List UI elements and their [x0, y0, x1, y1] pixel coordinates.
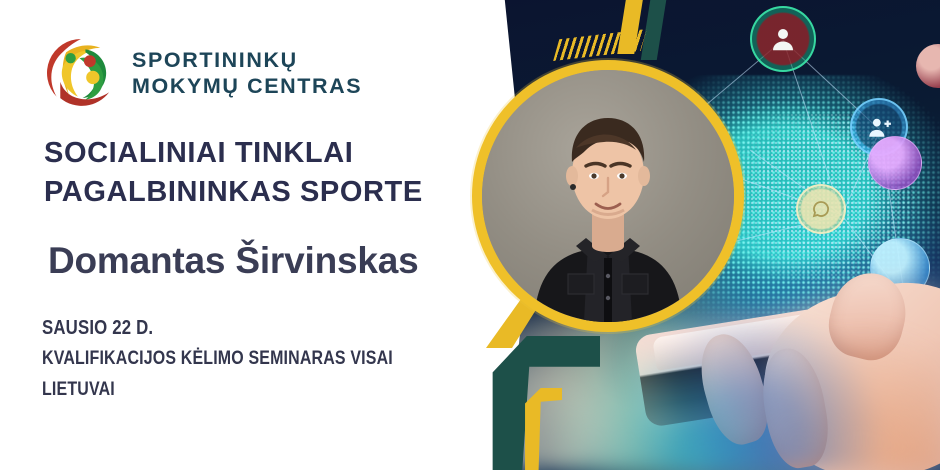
- brand-line-1: SPORTININKŲ: [132, 47, 362, 73]
- event-details: SAUSIO 22 D. KVALIFIKACIJOS KĖLIMO SEMIN…: [42, 312, 427, 406]
- event-poster: SPORTININKŲ MOKYMŲ CENTRAS SOCIALINIAI T…: [0, 0, 940, 470]
- content-panel: SPORTININKŲ MOKYMŲ CENTRAS SOCIALINIAI T…: [0, 0, 500, 470]
- speaker-name: Domantas Širvinskas: [48, 240, 418, 282]
- brand-line-2: MOKYMŲ CENTRAS: [132, 73, 362, 99]
- brand-logo-text: SPORTININKŲ MOKYMŲ CENTRAS: [132, 47, 362, 99]
- node-user-primary: [750, 6, 816, 72]
- event-date: SAUSIO 22 D.: [42, 312, 427, 344]
- speaker-portrait: [472, 60, 744, 332]
- graphic-panel: [450, 0, 940, 470]
- node-orb-purple: [868, 136, 922, 190]
- brand-logo: SPORTININKŲ MOKYMŲ CENTRAS: [44, 36, 362, 110]
- sportininku-mokymu-centras-emblem-icon: [44, 36, 118, 110]
- portrait-figure: [482, 70, 734, 322]
- chat-icon: [809, 197, 833, 221]
- node-chat: [796, 184, 846, 234]
- user-icon: [768, 24, 798, 54]
- page-title: SOCIALINIAI TINKLAI PAGALBININKAS SPORTE: [44, 134, 423, 211]
- headline-line-1: SOCIALINIAI TINKLAI: [44, 134, 423, 173]
- event-description: KVALIFIKACIJOS KĖLIMO SEMINARAS VISAI LI…: [42, 344, 427, 406]
- headline-line-2: PAGALBININKAS SPORTE: [44, 173, 423, 212]
